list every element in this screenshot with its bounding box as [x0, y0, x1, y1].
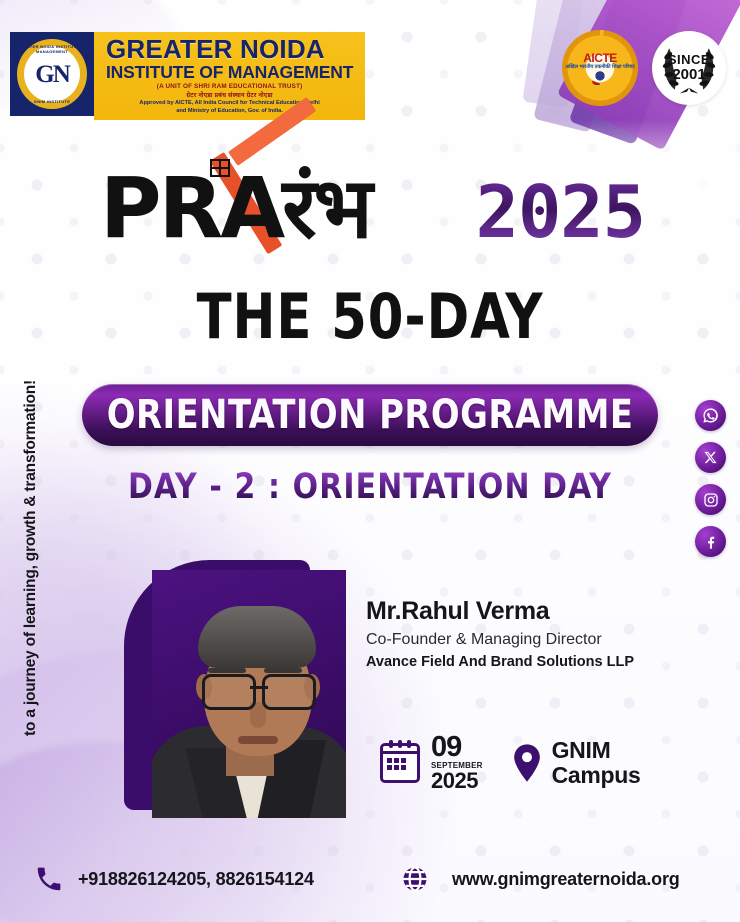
- poster-canvas: GREATER NOIDA INSTITUTE OF MANAGEMENT GN…: [0, 0, 740, 922]
- speaker-organisation: Avance Field And Brand Solutions LLP: [366, 654, 634, 671]
- since-badge: SINCE 2001: [652, 31, 726, 105]
- globe-icon: [400, 864, 430, 894]
- aicte-subtitle: अखिल भारतीय तकनीकी शिक्षा परिषद: [565, 64, 634, 70]
- event-meta: 09 SEPTEMBER 2025 GNIM Campus: [380, 734, 641, 792]
- institute-name-line1: GREATER NOIDA: [106, 36, 353, 63]
- prarambh-devanagari: रंभ: [282, 159, 369, 257]
- venue-line1: GNIM: [552, 738, 641, 763]
- event-day: 09: [431, 734, 483, 761]
- institute-approval-line1: Approved by AICTE, All India Council for…: [106, 100, 353, 107]
- speaker-photo-block: [124, 560, 346, 822]
- speaker-details: Mr.Rahul Verma Co-Founder & Managing Dir…: [366, 598, 634, 671]
- facebook-icon[interactable]: [695, 526, 726, 557]
- orientation-programme-banner: ORIENTATION PROGRAMME: [82, 384, 658, 446]
- institute-unit-line: (A UNIT OF SHRI RAM EDUCATIONAL TRUST): [106, 83, 353, 90]
- poster-footer: +918826124205, 8826154124 www.gnimgreate…: [0, 854, 740, 904]
- phone-number: +918826124205, 8826154124: [78, 869, 314, 890]
- aicte-gear-icon: AICTE अखिल भारतीय तकनीकी शिक्षा परिषद: [562, 30, 638, 106]
- seal-monogram: GN: [35, 62, 69, 87]
- phone-icon: [34, 864, 64, 894]
- prarambh-latin: PRA: [100, 159, 282, 257]
- website-url: www.gnimgreaternoida.org: [452, 869, 680, 890]
- x-twitter-icon[interactable]: [695, 442, 726, 473]
- instagram-icon[interactable]: [695, 484, 726, 515]
- social-links[interactable]: [695, 400, 726, 557]
- aicte-label: AICTE: [583, 52, 617, 64]
- day-subtitle: DAY - 2 : ORIENTATION DAY: [19, 470, 722, 505]
- event-date: 09 SEPTEMBER 2025: [380, 734, 483, 792]
- speaker-portrait: [152, 570, 346, 818]
- speaker-role: Co-Founder & Managing Director: [366, 630, 634, 649]
- event-year-value: 2025: [431, 770, 483, 792]
- institute-approval-line2: and Ministry of Education, Gov. of India…: [106, 108, 353, 115]
- aicte-emblem-icon: [592, 71, 608, 85]
- speaker-name: Mr.Rahul Verma: [366, 598, 634, 626]
- contact-phone[interactable]: +918826124205, 8826154124: [34, 864, 314, 894]
- institute-name-band: GREATER NOIDA INSTITUTE OF MANAGEMENT (A…: [94, 32, 365, 120]
- prarambh-wordmark: PRAरंभ: [100, 166, 370, 250]
- contact-website[interactable]: www.gnimgreaternoida.org: [400, 864, 680, 894]
- map-pin-icon: [513, 744, 541, 782]
- whatsapp-icon[interactable]: [695, 400, 726, 431]
- calendar-icon: [380, 743, 420, 783]
- institute-hindi-line: ग्रेटर नोएडा प्रबंध संस्थान ग्रेटर नोएडा: [106, 90, 353, 99]
- accreditation-badges: AICTE अखिल भारतीय तकनीकी शिक्षा परिषद: [562, 30, 726, 106]
- gnim-seal-icon: GREATER NOIDA INSTITUTE OF MANAGEMENT GN…: [10, 32, 94, 116]
- event-venue: GNIM Campus: [513, 738, 641, 788]
- seal-bottom-text: GNIM INSTITUTE: [17, 99, 87, 104]
- institute-name-line2: INSTITUTE OF MANAGEMENT: [106, 63, 353, 82]
- prarambh-logo: PRAरंभ 2025: [100, 152, 645, 264]
- laurel-wreath-icon: [656, 35, 722, 101]
- house-window-icon: [210, 159, 230, 177]
- side-tagline: to a journey of learning, growth & trans…: [22, 380, 40, 736]
- headline-50-day: THE 50-DAY: [30, 286, 711, 348]
- orientation-programme-label: ORIENTATION PROGRAMME: [107, 395, 634, 435]
- venue-line2: Campus: [552, 763, 641, 788]
- event-year: 2025: [476, 176, 645, 248]
- seal-top-text: GREATER NOIDA INSTITUTE OF MANAGEMENT: [17, 44, 87, 54]
